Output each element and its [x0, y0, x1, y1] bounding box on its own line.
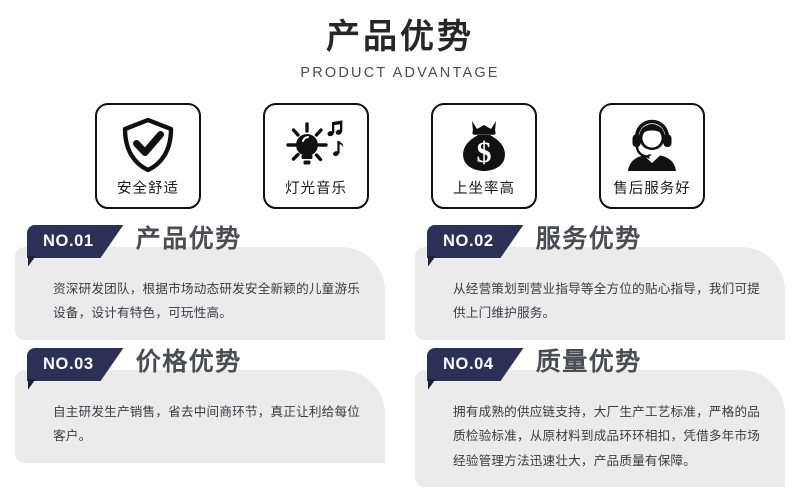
feature-label: 安全舒适 [117, 177, 179, 198]
advantage-card-4[interactable]: NO.04 质量优势 拥有成熟的供应链支持，大厂生产工艺标准，严格的品质检验标准… [415, 348, 785, 487]
advantage-card-1[interactable]: NO.01 产品优势 资深研发团队，根据市场动态研发安全新颖的儿童游乐设备，设计… [15, 225, 385, 340]
advantage-card-2[interactable]: NO.02 服务优势 从经营策划到营业指导等全方位的贴心指导，我们可提供上门维护… [415, 225, 785, 340]
card-title: 价格优势 [136, 347, 242, 378]
feature-box-after-sales[interactable]: 售后服务好 [599, 103, 705, 209]
svg-text:$: $ [477, 136, 492, 169]
card-body: 拥有成熟的供应链支持，大厂生产工艺标准，严格的品质检验标准，从原材料到成品环环相… [415, 370, 785, 487]
money-bag-dollar-icon: $ [458, 114, 510, 176]
feature-icon-row: 安全舒适 [0, 103, 800, 209]
card-header-1: NO.01 产品优势 [27, 225, 242, 258]
card-number-badge: NO.04 [427, 348, 524, 381]
feature-label: 售后服务好 [613, 177, 691, 198]
page-title: 产品优势 [0, 16, 800, 59]
advantage-card-row-1: NO.01 产品优势 资深研发团队，根据市场动态研发安全新颖的儿童游乐设备，设计… [0, 225, 800, 340]
card-description: 拥有成熟的供应链支持，大厂生产工艺标准，严格的品质检验标准，从原材料到成品环环相… [441, 400, 765, 474]
card-header-2: NO.02 服务优势 [427, 225, 642, 258]
feature-label: 上坐率高 [453, 177, 515, 198]
advantage-card-3[interactable]: NO.03 价格优势 自主研发生产销售，省去中间商环节，真正让利给每位客户。 [15, 348, 385, 487]
advantage-cards: NO.01 产品优势 资深研发团队，根据市场动态研发安全新颖的儿童游乐设备，设计… [0, 225, 800, 487]
card-title: 服务优势 [536, 224, 642, 255]
card-body: 自主研发生产销售，省去中间商环节，真正让利给每位客户。 [15, 370, 385, 463]
card-description: 资深研发团队，根据市场动态研发安全新颖的儿童游乐设备，设计有特色，可玩性高。 [41, 277, 365, 326]
card-body: 资深研发团队，根据市场动态研发安全新颖的儿童游乐设备，设计有特色，可玩性高。 [15, 247, 385, 340]
card-number-badge: NO.03 [27, 348, 124, 381]
feature-box-safety[interactable]: 安全舒适 [95, 103, 201, 209]
feature-label: 灯光音乐 [285, 177, 347, 198]
card-description: 从经营策划到营业指导等全方位的贴心指导，我们可提供上门维护服务。 [441, 277, 765, 326]
card-title: 产品优势 [136, 224, 242, 255]
card-title: 质量优势 [536, 347, 642, 378]
card-body: 从经营策划到营业指导等全方位的贴心指导，我们可提供上门维护服务。 [415, 247, 785, 340]
page-header: 产品优势 PRODUCT ADVANTAGE [0, 0, 800, 81]
card-number-badge: NO.02 [427, 225, 524, 258]
shield-check-icon [121, 114, 175, 176]
page-subtitle: PRODUCT ADVANTAGE [0, 65, 800, 81]
card-header-3: NO.03 价格优势 [27, 348, 242, 381]
card-number-badge: NO.01 [27, 225, 124, 258]
feature-box-occupancy[interactable]: $ 上坐率高 [431, 103, 537, 209]
advantage-card-row-2: NO.03 价格优势 自主研发生产销售，省去中间商环节，真正让利给每位客户。 N… [0, 348, 800, 487]
card-description: 自主研发生产销售，省去中间商环节，真正让利给每位客户。 [41, 400, 365, 449]
customer-service-headset-icon [623, 114, 681, 176]
card-header-4: NO.04 质量优势 [427, 348, 642, 381]
lightbulb-music-icon [285, 114, 347, 176]
feature-box-light-music[interactable]: 灯光音乐 [263, 103, 369, 209]
